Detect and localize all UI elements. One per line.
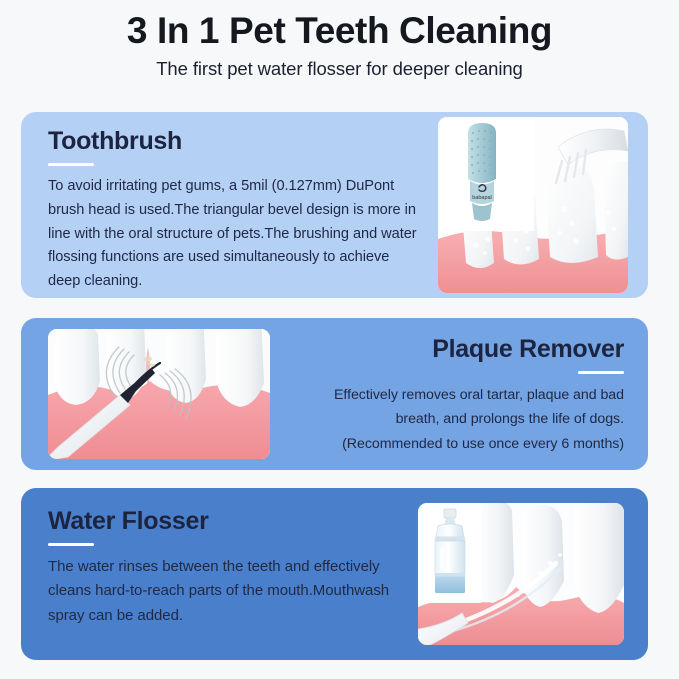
plaque-remover-body-line: (Recommended to use once every 6 months) (204, 432, 624, 456)
toothbrush-heading: Toothbrush (48, 126, 424, 156)
water-flosser-illustration (418, 503, 624, 645)
toothbrush-body-text: To avoid irritating pet gums, a 5mil (0.… (48, 175, 424, 294)
header-block: 3 In 1 Pet Teeth Cleaning The first pet … (0, 10, 679, 80)
feature-card-toothbrush: Toothbrush To avoid irritating pet gums,… (21, 112, 648, 298)
toothbrush-image-panel: babapal (438, 117, 628, 293)
page-subtitle: The first pet water flosser for deeper c… (0, 58, 679, 80)
water-flosser-heading-rule (48, 543, 94, 546)
toothbrush-heading-rule (48, 163, 94, 166)
page-title: 3 In 1 Pet Teeth Cleaning (0, 10, 679, 53)
plaque-remover-heading-rule (578, 371, 624, 374)
svg-text:babapal: babapal (472, 195, 492, 201)
water-flosser-text-column: Water Flosser The water rinses between t… (48, 506, 420, 628)
plaque-remover-body-line: Effectively removes oral tartar, plaque … (204, 383, 624, 407)
plaque-remover-text-column: Plaque Remover Effectively removes oral … (204, 334, 624, 456)
plaque-remover-heading: Plaque Remover (204, 334, 624, 364)
toothbrush-text-column: Toothbrush To avoid irritating pet gums,… (48, 126, 424, 294)
feature-card-plaque-remover: Plaque Remover Effectively removes oral … (21, 318, 648, 470)
feature-card-water-flosser: Water Flosser The water rinses between t… (21, 488, 648, 660)
plaque-remover-body-text: Effectively removes oral tartar, plaque … (204, 383, 624, 456)
toothbrush-illustration: babapal (438, 117, 628, 293)
water-flosser-image-panel (418, 503, 624, 645)
water-flosser-body-text: The water rinses between the teeth and e… (48, 555, 420, 628)
infographic-page: 3 In 1 Pet Teeth Cleaning The first pet … (0, 0, 679, 679)
plaque-remover-body-line: breath, and prolongs the life of dogs. (204, 407, 624, 431)
water-flosser-heading: Water Flosser (48, 506, 420, 536)
